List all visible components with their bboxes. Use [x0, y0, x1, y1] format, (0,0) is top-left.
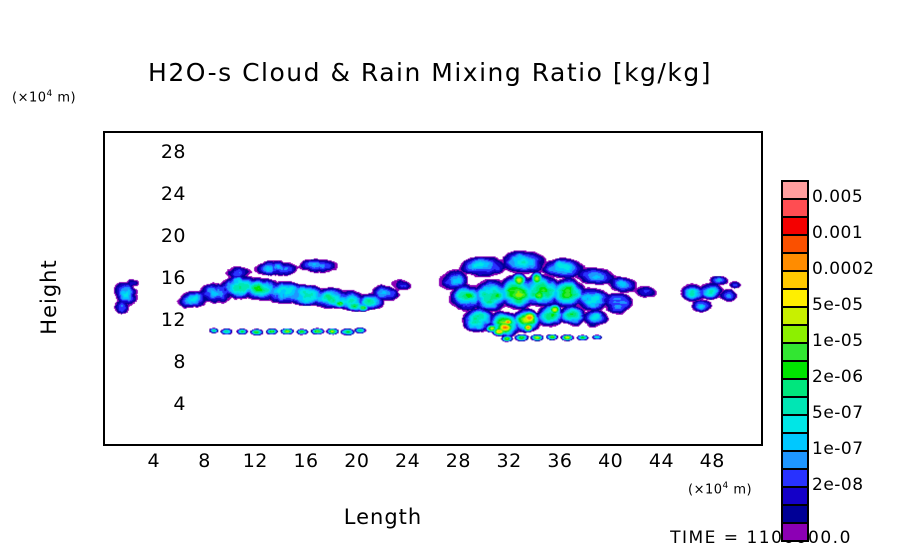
x-axis-major-tick	[612, 444, 614, 446]
y-axis-tick-label: 4	[126, 393, 186, 415]
x-axis-major-tick	[206, 444, 208, 446]
time-stamp-label: TIME = 1100000.0	[618, 528, 904, 548]
colorbar-band	[783, 236, 807, 254]
x-axis-major-tick	[358, 444, 360, 446]
y-axis-major-tick	[103, 279, 105, 281]
x-axis-title: Length	[0, 505, 766, 529]
colorbar-tick-label: 1e-07	[812, 439, 864, 459]
y-axis-major-tick	[103, 363, 105, 365]
x-axis-minor-tick	[586, 444, 588, 446]
y-axis-minor-tick	[103, 342, 105, 344]
colorbar-band	[783, 524, 807, 540]
y-axis-major-tick	[103, 405, 105, 407]
colorbar-band	[783, 380, 807, 398]
colorbar-tick-label: 1e-05	[812, 331, 864, 351]
y-axis-tick-label: 24	[126, 183, 186, 205]
colorbar-band	[783, 182, 807, 200]
colorbar-band	[783, 452, 807, 470]
colorbar-tick-label: 0.001	[812, 223, 863, 243]
y-axis-unit-suffix: m)	[53, 90, 76, 105]
x-axis-minor-tick	[536, 444, 538, 446]
colorbar-band	[783, 254, 807, 272]
colorbar-band	[783, 344, 807, 362]
colorbar-band	[783, 200, 807, 218]
y-axis-tick-label: 8	[126, 351, 186, 373]
x-axis-major-tick	[307, 444, 309, 446]
y-axis-minor-tick	[103, 174, 105, 176]
plot-area	[103, 131, 763, 446]
x-axis-unit-label: (×104 m)	[688, 481, 752, 497]
colorbar-tick-label: 2e-06	[812, 367, 864, 387]
y-axis-minor-tick	[103, 258, 105, 260]
y-axis-major-tick	[103, 321, 105, 323]
x-axis-major-tick	[713, 444, 715, 446]
colorbar	[781, 180, 809, 542]
x-axis-major-tick	[459, 444, 461, 446]
colorbar-tick-label: 5e-05	[812, 295, 864, 315]
colorbar-tick-label: 2e-08	[812, 475, 864, 495]
x-axis-unit-suffix: m)	[729, 482, 752, 497]
y-axis-tick-label: 28	[126, 141, 186, 163]
colorbar-band	[783, 272, 807, 290]
x-axis-major-tick	[155, 444, 157, 446]
x-axis-minor-tick	[231, 444, 233, 446]
colorbar-tick-label: 0.005	[812, 187, 863, 207]
x-axis-minor-tick	[383, 444, 385, 446]
colorbar-band	[783, 326, 807, 344]
y-axis-unit-label: (×104 m)	[12, 89, 76, 105]
colorbar-band	[783, 506, 807, 524]
y-axis-major-tick	[103, 195, 105, 197]
y-axis-tick-label: 16	[126, 267, 186, 289]
y-axis-unit-prefix: (×10	[12, 90, 47, 105]
colorbar-tick-label: 5e-07	[812, 403, 864, 423]
colorbar-band	[783, 218, 807, 236]
y-axis-minor-tick	[103, 216, 105, 218]
y-axis-tick-label: 12	[126, 309, 186, 331]
x-axis-minor-tick	[688, 444, 690, 446]
x-axis-major-tick	[510, 444, 512, 446]
x-axis-major-tick	[561, 444, 563, 446]
y-axis-minor-tick	[103, 384, 105, 386]
x-axis-major-tick	[256, 444, 258, 446]
x-axis-major-tick	[409, 444, 411, 446]
x-axis-minor-tick	[180, 444, 182, 446]
x-axis-minor-tick	[434, 444, 436, 446]
contour-field-canvas	[105, 133, 761, 444]
colorbar-band	[783, 308, 807, 326]
colorbar-band	[783, 434, 807, 452]
y-axis-minor-tick	[103, 300, 105, 302]
page-title: H2O-s Cloud & Rain Mixing Ratio [kg/kg]	[0, 58, 860, 87]
x-axis-minor-tick	[282, 444, 284, 446]
x-axis-minor-tick	[129, 444, 131, 446]
y-axis-major-tick	[103, 237, 105, 239]
x-axis-major-tick	[662, 444, 664, 446]
y-axis-tick-label: 20	[126, 225, 186, 247]
x-axis-minor-tick	[739, 444, 741, 446]
y-axis-minor-tick	[103, 426, 105, 428]
colorbar-band	[783, 488, 807, 506]
x-axis-minor-tick	[637, 444, 639, 446]
x-axis-unit-prefix: (×10	[688, 482, 723, 497]
x-axis-minor-tick	[332, 444, 334, 446]
colorbar-band	[783, 470, 807, 488]
x-axis-minor-tick	[485, 444, 487, 446]
colorbar-band	[783, 398, 807, 416]
colorbar-tick-label: 0.0002	[812, 259, 874, 279]
y-axis-major-tick	[103, 153, 105, 155]
colorbar-band	[783, 362, 807, 380]
colorbar-band	[783, 290, 807, 308]
colorbar-band	[783, 416, 807, 434]
y-axis-title: Height	[37, 242, 61, 352]
x-axis-tick-label: 48	[682, 450, 742, 472]
